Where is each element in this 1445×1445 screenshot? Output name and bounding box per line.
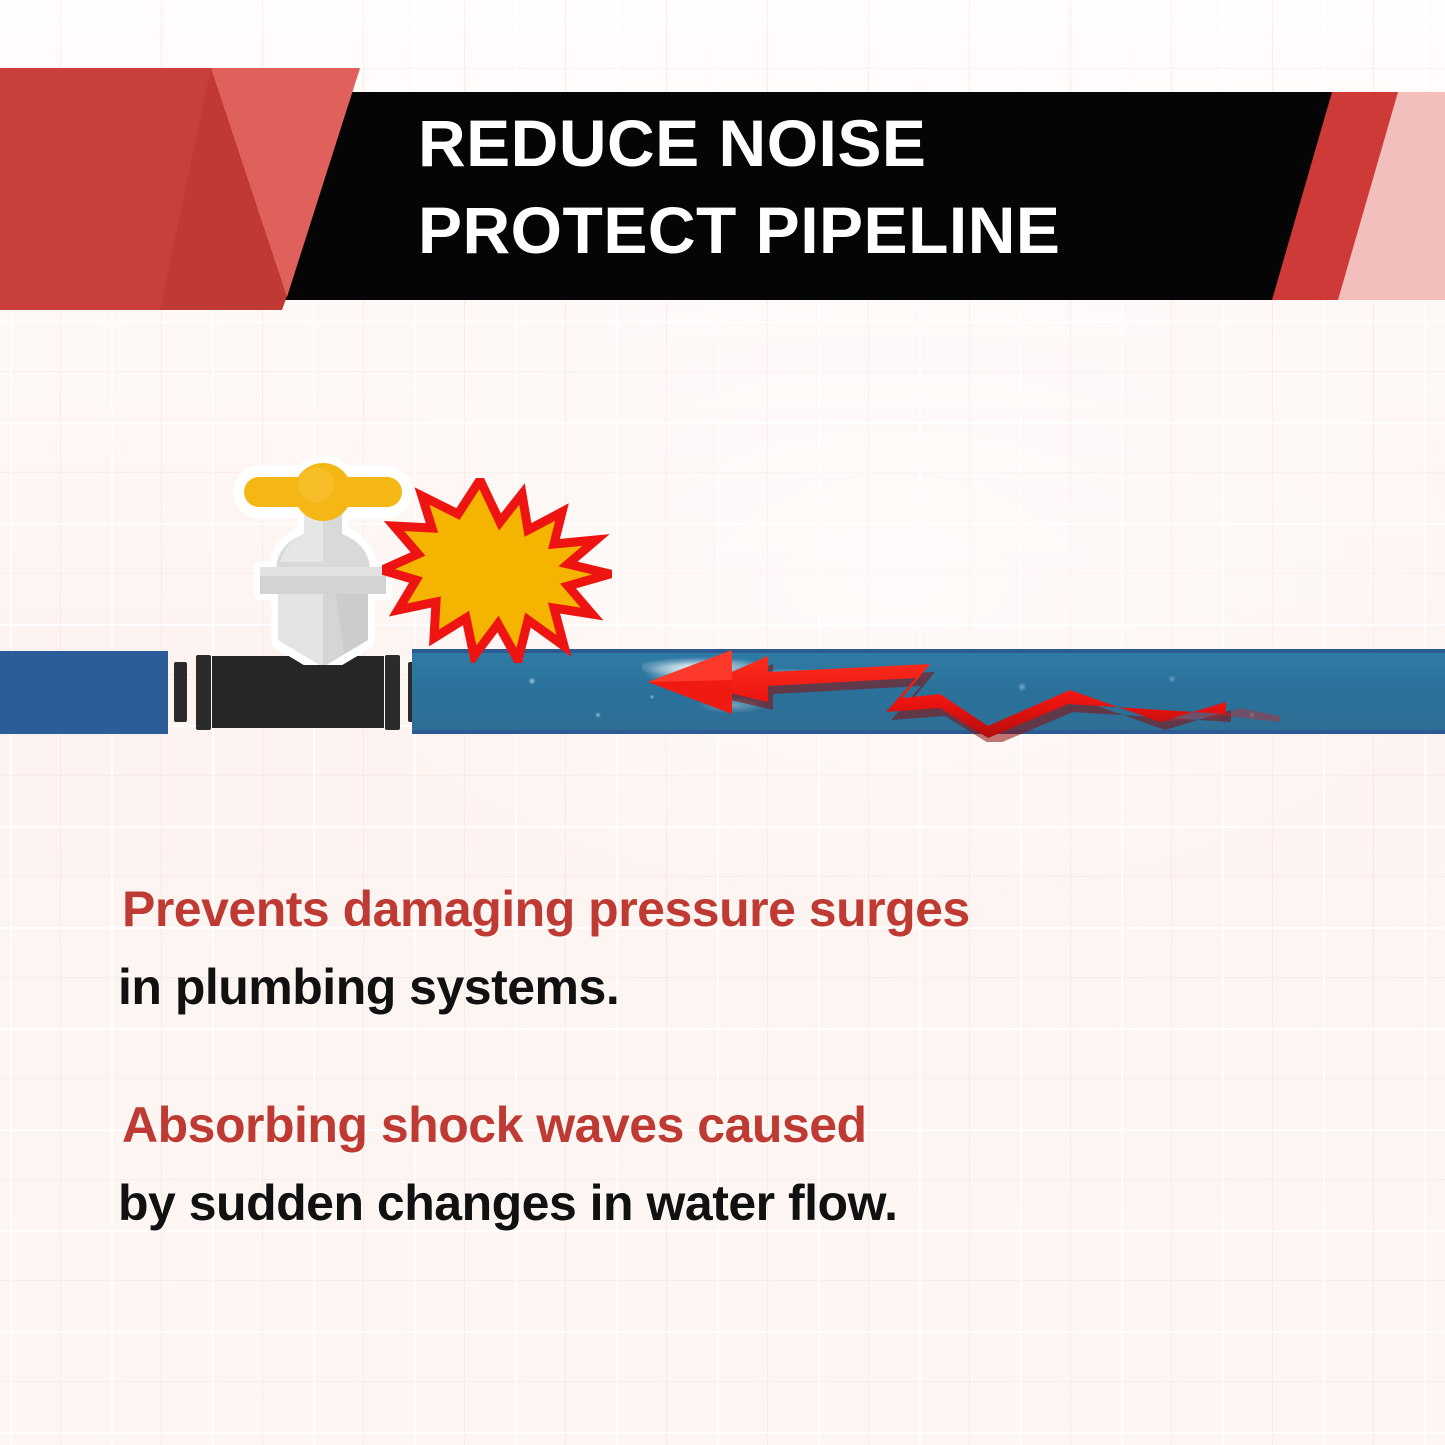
explosion-burst-icon [382,478,612,663]
copy-highlight-1: Prevents damaging pressure surges [0,870,1445,948]
title-line-2: PROTECT PIPELINE [418,187,1318,274]
flange-ring-2 [196,655,211,730]
body-copy: Prevents damaging pressure surges in plu… [0,870,1445,1302]
copy-block-2: Absorbing shock waves caused by sudden c… [0,1086,1445,1242]
title-line-1: REDUCE NOISE [418,100,1318,187]
pipeline-illustration [0,430,1445,760]
copy-block-1: Prevents damaging pressure surges in plu… [0,870,1445,1026]
pipe-segment-dark [212,656,384,728]
flange-ring-3 [385,655,400,730]
infographic-canvas: REDUCE NOISE PROTECT PIPELINE [0,0,1445,1445]
copy-plain-1: in plumbing systems. [0,948,1445,1026]
shock-wave-arrow-icon [640,642,1300,742]
pipe-segment-left [0,651,168,734]
copy-highlight-2: Absorbing shock waves caused [0,1086,1445,1164]
copy-plain-2: by sudden changes in water flow. [0,1164,1445,1242]
header-banner: REDUCE NOISE PROTECT PIPELINE [0,0,1445,360]
flange-ring-1 [174,662,187,722]
page-title: REDUCE NOISE PROTECT PIPELINE [418,100,1318,274]
